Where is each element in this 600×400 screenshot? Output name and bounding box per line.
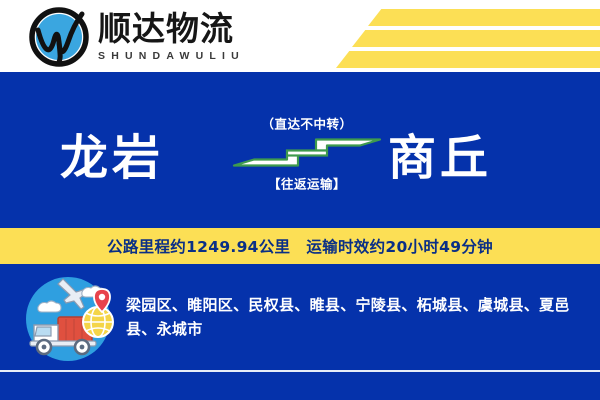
origin-city: 龙岩: [60, 118, 164, 188]
footer-band: [0, 372, 600, 400]
brand-name-cn: 顺达物流: [98, 12, 245, 47]
brand-name-en: SHUNDAWULIU: [98, 50, 245, 62]
info-bar-text: 公路里程约1249.94公里运输时效约20小时49分钟: [107, 235, 493, 257]
stripe-2: [352, 30, 600, 47]
route-info-bar: 公路里程约1249.94公里运输时效约20小时49分钟: [0, 228, 600, 264]
direct-route-note: （直达不中转）: [261, 113, 352, 132]
coverage-areas-section: 梁园区、睢阳区、民权县、睢县、宁陵县、柘城县、虞城县、夏邑县、永城市: [0, 264, 600, 370]
header-stripes-decoration: [300, 0, 600, 72]
brand-logo[interactable]: 顺达物流 SHUNDAWULIU: [28, 6, 245, 68]
stripe-3: [336, 51, 600, 68]
duration-value: 运输时效约20小时49分钟: [306, 238, 493, 256]
destination-city: 商丘: [388, 118, 492, 188]
stripe-1: [368, 9, 600, 26]
shunda-circle-logo-icon: [28, 6, 90, 68]
logistics-route-card: 顺达物流 SHUNDAWULIU 龙岩 （直达不中转） 【往返运输】 商丘: [0, 0, 600, 400]
route-middle-block: （直达不中转） 【往返运输】: [232, 113, 382, 192]
round-trip-note: 【往返运输】: [268, 173, 346, 192]
coverage-areas-list: 梁园区、睢阳区、民权县、睢县、宁陵县、柘城县、虞城县、夏邑县、永城市: [126, 293, 586, 342]
header-bar: 顺达物流 SHUNDAWULIU: [0, 0, 600, 72]
brand-text-block: 顺达物流 SHUNDAWULIU: [98, 12, 245, 62]
route-section: 龙岩 （直达不中转） 【往返运输】 商丘: [0, 77, 600, 228]
distance-value: 公路里程约1249.94公里: [107, 238, 290, 256]
logistics-truck-globe-icon: [14, 267, 122, 367]
bidirectional-arrow-icon: [232, 137, 382, 167]
